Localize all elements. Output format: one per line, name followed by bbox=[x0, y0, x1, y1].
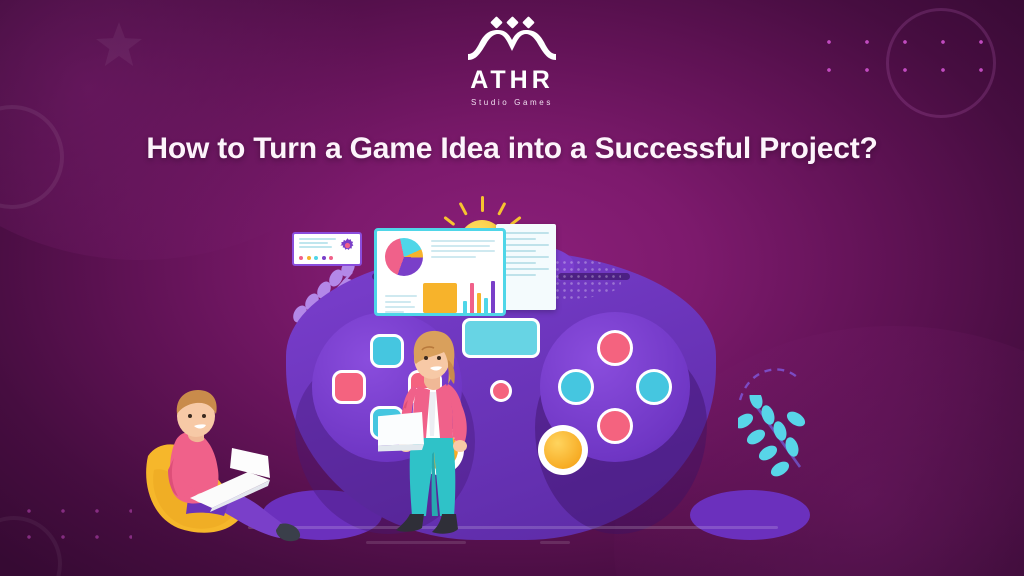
page-title: How to Turn a Game Idea into a Successfu… bbox=[0, 132, 1024, 166]
settings-color-dots bbox=[299, 256, 355, 260]
athr-chevron-mark-icon bbox=[466, 30, 558, 64]
controller-center-button[interactable] bbox=[490, 380, 512, 402]
action-button-left[interactable] bbox=[558, 369, 594, 405]
bulb-ray bbox=[481, 196, 484, 212]
settings-text-lines bbox=[299, 238, 336, 248]
dashboard-bar-chart bbox=[463, 281, 495, 313]
dashboard-text-lines-bottom bbox=[385, 295, 417, 313]
leaf-right-icon bbox=[738, 395, 818, 481]
woman-with-documents bbox=[378, 330, 488, 542]
man-with-laptop bbox=[120, 386, 310, 546]
logo-title: ATHR bbox=[470, 68, 554, 93]
brand-logo[interactable]: ATHR Studio Games bbox=[0, 18, 1024, 107]
dashed-swirl-decoration bbox=[736, 360, 806, 406]
illustration-area bbox=[0, 190, 1024, 576]
ground-line bbox=[248, 526, 778, 529]
action-button-top[interactable] bbox=[597, 330, 633, 366]
bulb-ray bbox=[497, 202, 506, 216]
dashboard-image-block bbox=[423, 283, 457, 313]
logo-diamonds-icon bbox=[492, 18, 533, 27]
dpad-button-left[interactable] bbox=[332, 370, 366, 404]
gear-icon bbox=[340, 238, 355, 253]
logo-tagline: Studio Games bbox=[471, 98, 553, 107]
bulb-ray bbox=[443, 216, 455, 226]
ground-shadow-dash bbox=[540, 541, 570, 544]
dashboard-text-lines-top bbox=[431, 238, 495, 276]
analytics-dashboard[interactable] bbox=[374, 228, 506, 316]
action-button-bottom[interactable] bbox=[597, 408, 633, 444]
analog-stick-right[interactable] bbox=[538, 425, 588, 475]
banner-canvas: ATHR Studio Games How to Turn a Game Ide… bbox=[0, 0, 1024, 576]
dashboard-pie-chart bbox=[385, 238, 423, 276]
action-button-right[interactable] bbox=[636, 369, 672, 405]
settings-panel[interactable] bbox=[292, 232, 362, 266]
bulb-ray bbox=[459, 202, 468, 216]
